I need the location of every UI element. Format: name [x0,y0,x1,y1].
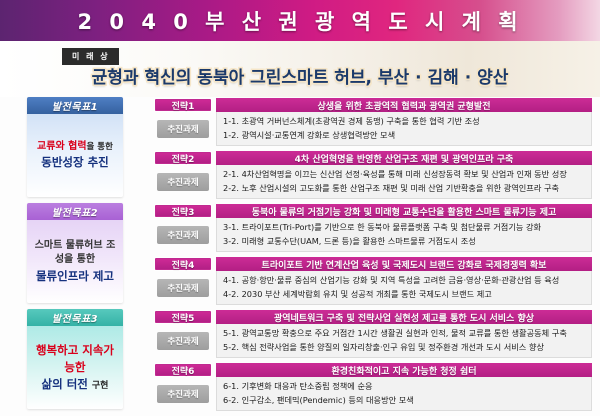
goal-3-line2: 삶의 터전 구현 [42,376,109,393]
strategy-6-heading: 환경친화적이고 지속 가능한 청정 쉼터 [216,363,592,377]
goal-3-suffix-text: 구현 [92,381,109,391]
strategy-chip-2[interactable]: 전략2 [154,151,212,165]
task-item: 6-2. 인구감소, 팬데믹(Pendemic) 등의 대응방안 모색 [223,394,585,408]
task-item: 1-2. 광역시설·교통연계 강화로 상생협력방안 모색 [223,129,585,143]
task-item: 3-2. 미래형 교통수단(UAM, 드론 등)을 활용한 스마트물류 거점도시… [223,235,585,249]
task-item: 6-1. 기후변화 대응과 탄소중립 정책에 순응 [223,380,585,394]
task-item: 2-1. 4차산업혁명을 이끄는 신산업 선정·육성를 통해 미래 신성장동력 … [223,168,585,182]
goal-card-2[interactable]: 발전목표2 스마트 물류허브 조성을 통한 물류인프라 제고 [27,203,123,303]
strategy-chip-6[interactable]: 전략6 [154,363,212,377]
strategy-block-3: 동북아 물류의 거점기능 강화 및 미래형 교통수단을 활용한 스마트 물류기능… [216,204,592,252]
task-chip-4[interactable]: 추진과제 [157,279,209,297]
goal-2-line1: 스마트 물류허브 조성을 통한 [31,239,119,268]
strategy-2-heading: 4차 산업혁명을 반영한 산업구조 재편 및 광역인프라 구축 [216,151,592,165]
task-item: 4-2. 2030 부산 세계박람회 유치 및 성공적 개최를 통한 국제도시 … [223,288,585,302]
vision-band: 미 래 상 균형과 혁신의 동북아 그린스마트 허브, 부산 · 김해 · 양산 [0,41,600,97]
goal-3-accent-text: 삶의 터전 [42,377,88,391]
goal-1-suffix-text: 을 통한 [87,142,113,152]
strategy-chip-column: 전략1 추진과제 전략2 추진과제 전략3 추진과제 전략4 추진과제 전략5 … [152,97,214,409]
goal-3-header: 발전목표3 [27,309,123,326]
goal-1-accent-text: 교류와 협력 [37,141,86,152]
task-item: 5-2. 핵심 전략사업을 통한 양질의 일자리창출·인구 유입 및 정주환경 … [223,341,585,355]
strategy-chip-1[interactable]: 전략1 [154,98,212,112]
strategy-1-tasks: 1-1. 초광역 거버넌스체계(초광역권 경제 동맹) 구축을 통한 협력 기반… [216,112,592,146]
task-item: 1-1. 초광역 거버넌스체계(초광역권 경제 동맹) 구축을 통한 협력 기반… [223,115,585,129]
task-item: 4-1. 공항·항만·물류 중심의 산업기능 강화 및 지역 특성을 고려한 금… [223,274,585,288]
infographic-page: 2 0 4 0 부 산 권 광 역 도 시 계 획 미 래 상 균형과 혁신의 … [0,0,600,416]
vision-statement: 균형과 혁신의 동북아 그린스마트 허브, 부산 · 김해 · 양산 [0,63,600,88]
strategy-5-tasks: 5-1. 광역교통망 확충으로 주요 거점간 1시간 생활권 실현과 인적, 물… [216,324,592,358]
goal-1-header: 발전목표1 [27,97,123,114]
page-header: 2 0 4 0 부 산 권 광 역 도 시 계 획 [0,0,600,41]
strategy-2-tasks: 2-1. 4차산업혁명을 이끄는 신산업 선정·육성를 통해 미래 신성장동력 … [216,165,592,199]
strategy-block-4: 트라이포트 기반 연계산업 육성 및 국제도시 브랜드 강화로 국제경쟁력 확보… [216,257,592,305]
task-chip-3[interactable]: 추진과제 [157,226,209,244]
task-item: 3-1. 트라이포트(Tri-Port)를 기반으로 한 동북아 물류플랫폼 구… [223,221,585,235]
strategy-6-tasks: 6-1. 기후변화 대응과 탄소중립 정책에 순응 6-2. 인구감소, 팬데믹… [216,377,592,411]
task-chip-2[interactable]: 추진과제 [157,173,209,191]
strategy-3-tasks: 3-1. 트라이포트(Tri-Port)를 기반으로 한 동북아 물류플랫폼 구… [216,218,592,252]
task-chip-5[interactable]: 추진과제 [157,332,209,350]
content-area: 발전목표1 교류와 협력을 통한 동반성장 추진 발전목표2 스마트 물류허브 … [0,97,600,416]
strategy-block-6: 환경친화적이고 지속 가능한 청정 쉼터 6-1. 기후변화 대응과 탄소중립 … [216,363,592,411]
strategy-block-2: 4차 산업혁명을 반영한 산업구조 재편 및 광역인프라 구축 2-1. 4차산… [216,151,592,199]
strategy-chip-5[interactable]: 전략5 [154,310,212,324]
strategy-block-5: 광역네트워크 구축 및 전략사업 실현성 제고를 통한 도시 서비스 향상 5-… [216,310,592,358]
strategy-4-tasks: 4-1. 공항·항만·물류 중심의 산업기능 강화 및 지역 특성을 고려한 금… [216,271,592,305]
goal-3-body: 행복하고 지속가능한 삶의 터전 구현 [27,326,123,409]
task-item: 5-1. 광역교통망 확충으로 주요 거점간 1시간 생활권 실현과 인적, 물… [223,327,585,341]
goal-card-3[interactable]: 발전목표3 행복하고 지속가능한 삶의 터전 구현 [27,309,123,409]
task-chip-1[interactable]: 추진과제 [157,120,209,138]
task-item: 2-2. 노후 산업시설의 고도화를 통한 산업구조 재편 및 미래 산업 기반… [223,182,585,196]
strategy-4-heading: 트라이포트 기반 연계산업 육성 및 국제도시 브랜드 강화로 국제경쟁력 확보 [216,257,592,271]
strategy-block-1: 상생을 위한 초광역적 협력과 광역권 균형발전 1-1. 초광역 거버넌스체계… [216,98,592,146]
strategy-chip-4[interactable]: 전략4 [154,257,212,271]
strategy-5-heading: 광역네트워크 구축 및 전략사업 실현성 제고를 통한 도시 서비스 향상 [216,310,592,324]
goal-1-body: 교류와 협력을 통한 동반성장 추진 [27,114,123,197]
goal-2-header: 발전목표2 [27,203,123,220]
goal-1-line1: 교류와 협력을 통한 [37,140,113,155]
goal-2-body: 스마트 물류허브 조성을 통한 물류인프라 제고 [27,220,123,303]
goal-2-line2: 물류인프라 제고 [36,268,114,285]
strategy-detail-column: 상생을 위한 초광역적 협력과 광역권 균형발전 1-1. 초광역 거버넌스체계… [216,97,592,409]
task-chip-6[interactable]: 추진과제 [157,385,209,403]
strategy-chip-3[interactable]: 전략3 [154,204,212,218]
strategy-3-heading: 동북아 물류의 거점기능 강화 및 미래형 교통수단을 활용한 스마트 물류기능… [216,204,592,218]
goal-1-line2: 동반성장 추진 [41,154,108,171]
strategy-1-heading: 상생을 위한 초광역적 협력과 광역권 균형발전 [216,98,592,112]
goal-card-1[interactable]: 발전목표1 교류와 협력을 통한 동반성장 추진 [27,97,123,197]
goal-3-line1: 행복하고 지속가능한 [31,342,119,375]
page-title: 2 0 4 0 부 산 권 광 역 도 시 계 획 [77,6,522,36]
goals-column: 발전목표1 교류와 협력을 통한 동반성장 추진 발전목표2 스마트 물류허브 … [27,97,123,409]
